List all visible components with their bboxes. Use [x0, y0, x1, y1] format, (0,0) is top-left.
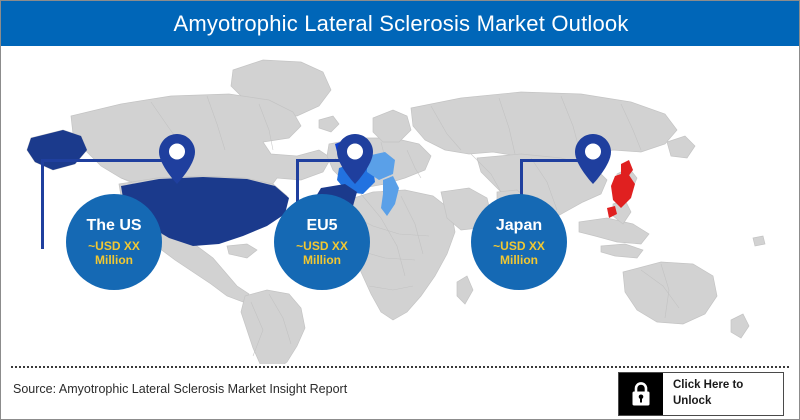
page-header: Amyotrophic Lateral Sclerosis Market Out… — [1, 1, 800, 46]
region-value-the-us: ~USD XX Million — [88, 240, 140, 268]
page-title: Amyotrophic Lateral Sclerosis Market Out… — [173, 11, 628, 37]
market-outlook-infographic: Amyotrophic Lateral Sclerosis Market Out… — [0, 0, 800, 420]
us-pin[interactable] — [159, 134, 195, 184]
padlock-icon — [619, 373, 663, 415]
map-stage: The US ~USD XX Million EU5 ~USD XX Milli… — [1, 46, 799, 364]
region-value-japan: ~USD XX Million — [493, 240, 545, 268]
source-label: Source: Amyotrophic Lateral Sclerosis Ma… — [13, 382, 347, 396]
eu5-pin[interactable] — [337, 134, 373, 184]
japan-pin[interactable] — [575, 134, 611, 184]
region-name-the-us: The US — [86, 217, 141, 235]
footer-divider — [11, 366, 789, 368]
region-name-eu5: EU5 — [306, 217, 337, 235]
region-value-eu5: ~USD XX Million — [296, 240, 348, 268]
region-name-japan: Japan — [496, 217, 542, 235]
region-bubble-eu5[interactable]: EU5 ~USD XX Million — [274, 194, 370, 290]
unlock-button[interactable]: Click Here to Unlock — [618, 372, 784, 416]
region-bubble-japan[interactable]: Japan ~USD XX Million — [471, 194, 567, 290]
region-bubble-the-us[interactable]: The US ~USD XX Million — [66, 194, 162, 290]
unlock-button-label: Click Here to Unlock — [663, 373, 783, 415]
